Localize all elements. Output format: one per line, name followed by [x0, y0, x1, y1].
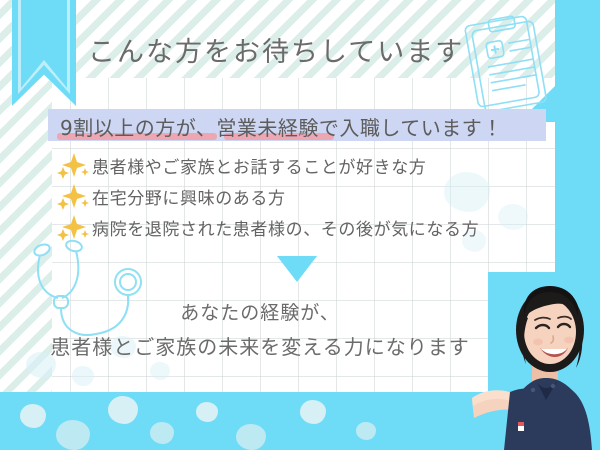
decorative-blob	[300, 400, 326, 424]
decorative-blob	[108, 396, 138, 424]
list-item-label: 患者様やご家族とお話することが好きな方	[92, 153, 426, 178]
decorative-blob	[56, 420, 90, 450]
closing-line-2: 患者様とご家族の未来を変える力になります	[0, 330, 520, 364]
decorative-blob	[150, 422, 174, 444]
decorative-blob	[72, 366, 94, 386]
closing-message: あなたの経験が、 患者様とご家族の未来を変える力になります	[0, 296, 520, 364]
smiling-nurse-photo	[470, 272, 600, 450]
sparkle-icon	[56, 213, 92, 243]
sparkle-icon	[56, 182, 92, 212]
bullet-list: 患者様やご家族とお話することが好きな方 在宅分野に興味のある方 病院を退院さ	[56, 150, 526, 243]
list-item-label: 病院を退院された患者様の、その後が気になる方	[92, 215, 479, 240]
decorative-blob	[236, 424, 266, 450]
sparkle-icon	[56, 151, 92, 181]
down-triangle-icon	[277, 256, 317, 282]
clipboard-icon	[455, 8, 555, 116]
decorative-blob	[150, 362, 170, 380]
list-item: 病院を退院された患者様の、その後が気になる方	[56, 212, 526, 243]
decorative-blob	[196, 402, 218, 422]
list-item-label: 在宅分野に興味のある方	[92, 184, 286, 209]
decorative-blob	[356, 422, 376, 440]
recruitment-banner: こんな方をお待ちしています 9割以上の方が、営業未経験で入職しています！ 患者様…	[0, 0, 600, 450]
list-item: 在宅分野に興味のある方	[56, 181, 526, 212]
closing-line-1: あなたの経験が、	[0, 296, 520, 330]
list-item: 患者様やご家族とお話することが好きな方	[56, 150, 526, 181]
decorative-blob	[20, 404, 46, 428]
page-title: こんな方をお待ちしています	[88, 30, 464, 69]
highlight-text: 9割以上の方が、営業未経験で入職しています！	[60, 112, 503, 141]
